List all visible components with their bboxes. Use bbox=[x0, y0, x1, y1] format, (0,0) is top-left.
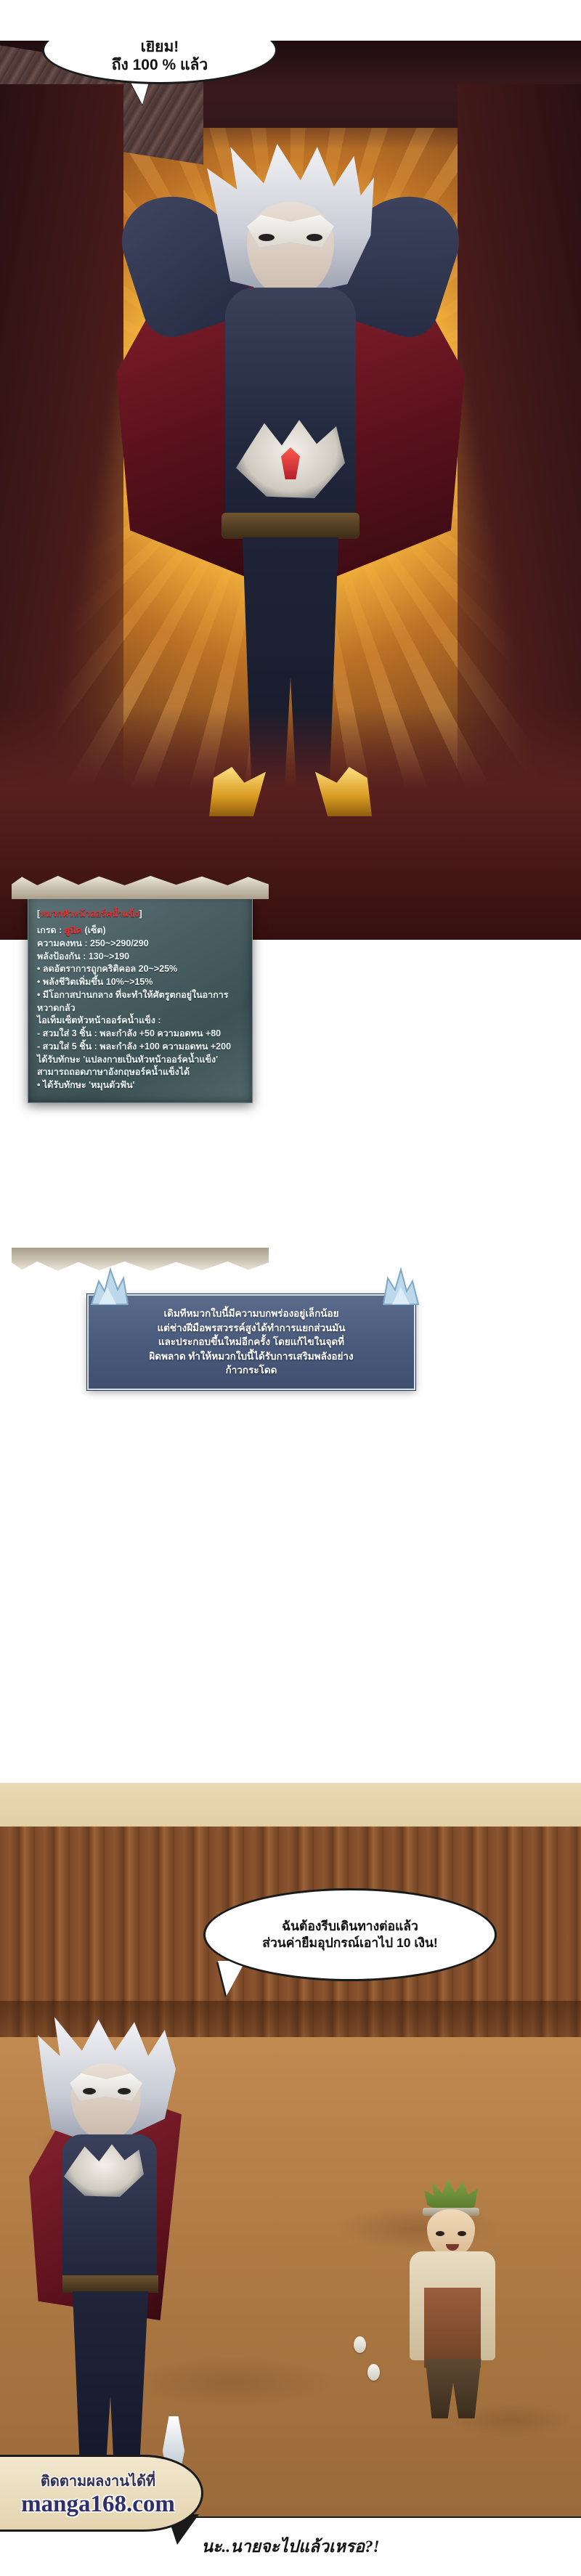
item-stat-row-grade: เกรด : ยูนิค (เซ็ต) bbox=[37, 925, 246, 938]
webtoon-page: เยี่ยม! ถึง 100 % แล้ว [หมวกหัวหน้าออร์ค… bbox=[0, 0, 581, 2576]
hero-eye-left bbox=[259, 234, 275, 241]
npc-eye-right bbox=[458, 2231, 466, 2236]
hero2-eye-right bbox=[118, 2088, 131, 2094]
item-set-row-3pc: - สวมใส่ 3 ชิ้น : พละกำลัง +50 ความอดทน … bbox=[37, 1028, 246, 1041]
coin-icon-1 bbox=[354, 2336, 366, 2353]
defense-label: พลังป้องกัน : bbox=[37, 951, 86, 962]
item-title-bracket-close: ] bbox=[139, 909, 142, 919]
panel-hero-celebration: เยี่ยม! ถึง 100 % แล้ว bbox=[0, 41, 581, 940]
item-set-bonus-spin-slash: ได้รับทักษะ 'หมุนตัวฟัน' bbox=[37, 1079, 246, 1092]
durability-value: 250~>290/290 bbox=[90, 938, 149, 948]
npc-merchant bbox=[392, 2179, 516, 2418]
watermark-site-url[interactable]: manga168.com bbox=[21, 2492, 175, 2517]
npc-apron bbox=[424, 2288, 481, 2368]
item-stat-row-defense: พลังป้องกัน : 130~>190 bbox=[37, 951, 246, 964]
item-set-header: ไอเท็มเซ็ตหัวหน้าออร์คน้ำแข็ง : bbox=[37, 1015, 246, 1028]
item-set-row-5pc: - สวมใส่ 5 ชิ้น : พละกำลัง +100 ความอดทน… bbox=[37, 1041, 246, 1054]
item-set-bonus-language: สามารถถอดภาษาอังกฤษอร์คน้ำแข็งได้ bbox=[37, 1066, 246, 1079]
grade-suffix: (เซ็ต) bbox=[85, 925, 106, 935]
item-bullet-fear: มีโอกาสปานกลาง ที่จะทำให้ศัตรูตกอยู่ในอา… bbox=[37, 989, 246, 1015]
item-stats-panel: [หมวกหัวหน้าออร์คน้ำแข็ง] เกรด : ยูนิค (… bbox=[28, 895, 253, 1103]
grade-value: ยูนิค bbox=[65, 925, 82, 935]
coin-icon-2 bbox=[367, 2364, 380, 2381]
ice-crystal-left-icon bbox=[86, 1265, 131, 1307]
hero-eye-right bbox=[306, 234, 322, 241]
npc-eye-left bbox=[436, 2231, 444, 2236]
hero2-belt bbox=[62, 2275, 158, 2293]
hero-belt bbox=[222, 513, 359, 539]
hero-character-walking bbox=[22, 2001, 240, 2509]
durability-label: ความคงทน : bbox=[37, 938, 88, 948]
watermark-follow-text: ติดตามผลงานได้ที่ bbox=[41, 2469, 155, 2492]
speech-bubble-mid: ฉันต้องรีบเดินทางต่อแล้ว ส่วนค่ายืมอุปกร… bbox=[203, 1888, 497, 1981]
defense-value: 130~>190 bbox=[89, 951, 129, 962]
narration-text: เดิมทีหมวกใบนี้มีความบกพร่องอยู่เล็กน้อย… bbox=[142, 1307, 360, 1378]
hero2-eye-left bbox=[83, 2088, 96, 2094]
speech-bubble-mid-text: ฉันต้องรีบเดินทางต่อแล้ว ส่วนค่ายืมอุปกร… bbox=[256, 1918, 443, 1951]
scroll-ornament-bottom-icon bbox=[12, 1248, 269, 1272]
item-title: หมวกหัวหน้าออร์คน้ำแข็ง bbox=[40, 909, 139, 919]
item-set-bonus-transform: ได้รับทักษะ 'แปลงกายเป็นหัวหน้าออร์คน้ำแ… bbox=[37, 1054, 246, 1067]
watermark-bubble: ติดตามผลงานได้ที่ manga168.com bbox=[0, 2455, 203, 2532]
npc-legs bbox=[420, 2359, 487, 2418]
grade-label: เกรด : bbox=[37, 925, 62, 935]
item-bullet-hp: พลังชีวิตเพิ่มขึ้น 10%~>15% bbox=[37, 976, 246, 989]
speech-bubble-top-text: เยี่ยม! ถึง 100 % แล้ว bbox=[102, 41, 218, 79]
item-stat-row-durability: ความคงทน : 250~>290/290 bbox=[37, 938, 246, 951]
item-title-row: [หมวกหัวหน้าออร์คน้ำแข็ง] bbox=[37, 907, 246, 921]
ice-crystal-right-icon bbox=[378, 1265, 423, 1307]
narration-box: เดิมทีหมวกใบนี้มีความบกพร่องอยู่เล็กน้อย… bbox=[87, 1294, 415, 1390]
bottom-dialogue-text: นะ..นายจะไปแล้วเหรอ?! bbox=[201, 2534, 379, 2560]
item-bullet-crit: ลดอัตราการถูกคริติคอล 20~>25% bbox=[37, 963, 246, 976]
